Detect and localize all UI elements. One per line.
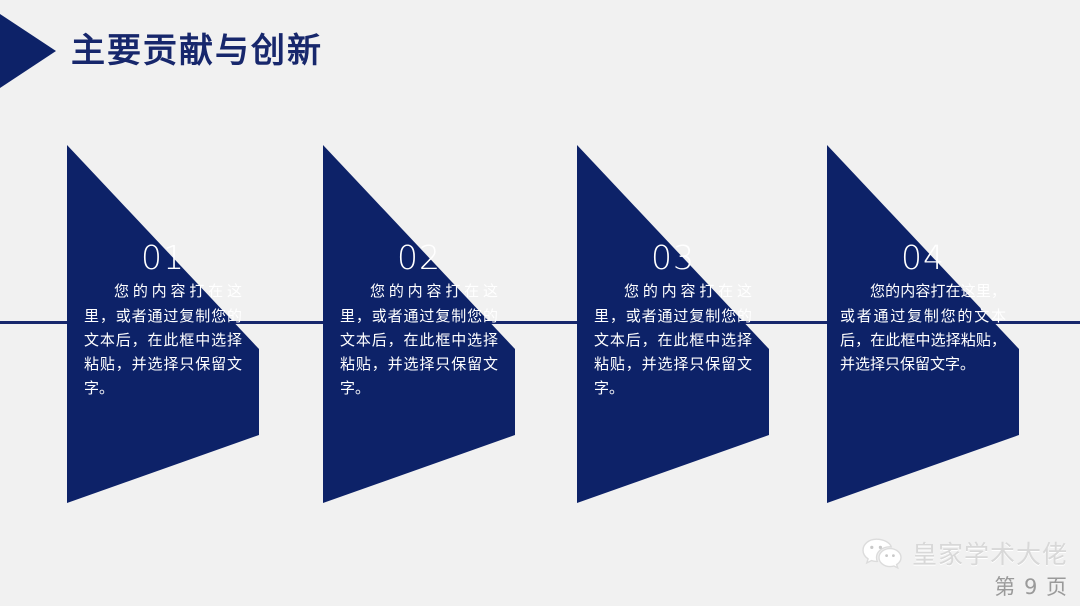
- card-number: 03: [577, 240, 769, 276]
- content-card-01[interactable]: 01 您的内容打在这里，或者通过复制您的文本后，在此框中选择粘贴，并选择只保留文…: [67, 145, 259, 503]
- card-number: 04: [827, 240, 1019, 276]
- watermark-brand-row: 皇家学术大佬: [828, 537, 1068, 571]
- page-number: 第 9 页: [828, 577, 1068, 598]
- footer-watermark: 皇家学术大佬 第 9 页: [828, 537, 1068, 598]
- content-card-02[interactable]: 02 您的内容打在这里，或者通过复制您的文本后，在此框中选择粘贴，并选择只保留文…: [323, 145, 515, 503]
- card-body: 01 您的内容打在这里，或者通过复制您的文本后，在此框中选择粘贴，并选择只保留文…: [67, 145, 259, 401]
- watermark-brand-text: 皇家学术大佬: [912, 542, 1068, 567]
- card-number: 01: [67, 240, 259, 276]
- card-body: 04 您的内容打在这里，或者通过复制您的文本后，在此框中选择粘贴，并选择只保留文…: [827, 145, 1019, 376]
- card-text: 您的内容打在这里，或者通过复制您的文本后，在此框中选择粘贴，并选择只保留文字。: [84, 279, 242, 400]
- card-group: 01 您的内容打在这里，或者通过复制您的文本后，在此框中选择粘贴，并选择只保留文…: [0, 0, 1080, 606]
- card-text: 您的内容打在这里，或者通过复制您的文本后，在此框中选择粘贴，并选择只保留文字。: [594, 279, 752, 400]
- slide-canvas: 主要贡献与创新 01 您的内容打在这里，或者通过复制您的文本后，在此框中选择粘贴…: [0, 0, 1080, 606]
- card-body: 02 您的内容打在这里，或者通过复制您的文本后，在此框中选择粘贴，并选择只保留文…: [323, 145, 515, 401]
- card-number: 02: [323, 240, 515, 276]
- card-text: 您的内容打在这里，或者通过复制您的文本后，在此框中选择粘贴，并选择只保留文字。: [840, 279, 1006, 376]
- content-card-03[interactable]: 03 您的内容打在这里，或者通过复制您的文本后，在此框中选择粘贴，并选择只保留文…: [577, 145, 769, 503]
- card-body: 03 您的内容打在这里，或者通过复制您的文本后，在此框中选择粘贴，并选择只保留文…: [577, 145, 769, 401]
- card-text: 您的内容打在这里，或者通过复制您的文本后，在此框中选择粘贴，并选择只保留文字。: [340, 279, 498, 400]
- wechat-icon: [861, 537, 903, 571]
- content-card-04[interactable]: 04 您的内容打在这里，或者通过复制您的文本后，在此框中选择粘贴，并选择只保留文…: [827, 145, 1019, 503]
